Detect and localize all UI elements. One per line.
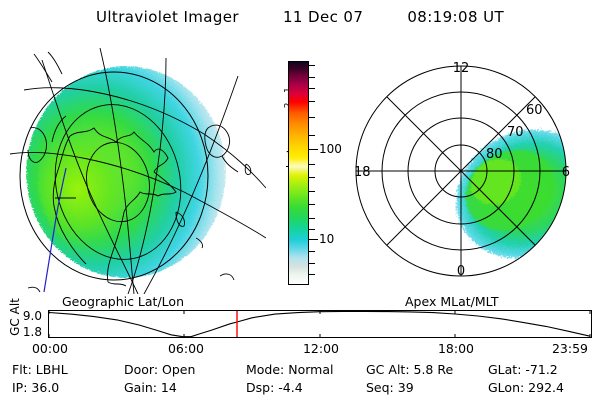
status-filter: Flt: LBHL <box>12 362 68 377</box>
orbit-y-tick-container: 9.0 1.8 <box>6 308 42 340</box>
observation-date: 11 Dec 07 <box>283 8 363 26</box>
uvi-application-window: Ultraviolet Imager 11 Dec 07 08:19:08 UT <box>0 0 600 400</box>
orbit-altitude-canvas <box>49 311 591 337</box>
status-glon: GLon: 292.4 <box>488 380 564 395</box>
mlt-label-6: 6 <box>562 165 570 180</box>
time-axis-labels: 00:00 06:00 12:00 18:00 23:59 <box>0 341 600 357</box>
status-door: Door: Open <box>124 362 195 377</box>
geographic-image-panel[interactable] <box>8 42 266 294</box>
status-glat: GLat: -71.2 <box>488 362 558 377</box>
geographic-image-canvas <box>8 42 266 294</box>
status-mode: Mode: Normal <box>246 362 333 377</box>
status-ip: IP: 36.0 <box>12 380 59 395</box>
mlat-label-80: 80 <box>486 147 503 162</box>
auroral-emission-overlay <box>26 66 226 278</box>
mlat-label-60: 60 <box>526 103 543 118</box>
instrument-title: Ultraviolet Imager <box>96 8 239 26</box>
status-gain: Gain: 14 <box>124 380 177 395</box>
time-tick-0600: 06:00 <box>168 341 204 356</box>
apex-panel-caption: Apex MLat/MLT <box>405 294 499 309</box>
mlt-label-12: 12 <box>453 61 470 76</box>
header-bar: Ultraviolet Imager 11 Dec 07 08:19:08 UT <box>0 4 600 30</box>
time-tick-1200: 12:00 <box>303 341 339 356</box>
status-seq: Seq: 39 <box>366 380 414 395</box>
apex-polar-panel[interactable]: 12 18 6 0 60 70 80 <box>330 42 594 294</box>
mlt-label-0: 0 <box>457 264 465 279</box>
mlt-label-18: 18 <box>354 165 371 180</box>
orbit-altitude-plot[interactable] <box>48 310 592 338</box>
mlt-spokes <box>356 66 566 276</box>
geographic-panel-caption: Geographic Lat/Lon <box>62 294 184 309</box>
orbit-y-tick-low: 1.8 <box>23 325 42 339</box>
status-dsp: Dsp: -4.4 <box>246 380 303 395</box>
time-tick-2359: 23:59 <box>552 341 588 356</box>
apex-polar-canvas: 12 18 6 0 60 70 80 <box>330 42 594 294</box>
orbit-axis-tick-marks <box>49 311 590 337</box>
time-tick-1800: 18:00 <box>438 341 474 356</box>
status-footer: Flt: LBHL IP: 36.0 Door: Open Gain: 14 M… <box>0 362 600 400</box>
colorbar-panel: photon cm-2s-1 100 10 <box>268 50 326 295</box>
orbit-altitude-strip[interactable]: GC Alt 9.0 1.8 <box>0 308 600 340</box>
orbit-altitude-trace <box>49 312 590 337</box>
time-tick-0000: 00:00 <box>32 341 68 356</box>
mlat-label-70: 70 <box>507 125 524 140</box>
status-gc-alt: GC Alt: 5.8 Re <box>366 362 453 377</box>
orbit-y-tick-high: 9.0 <box>23 309 42 323</box>
colorbar-gradient <box>288 61 309 285</box>
observation-time: 08:19:08 UT <box>407 8 504 26</box>
